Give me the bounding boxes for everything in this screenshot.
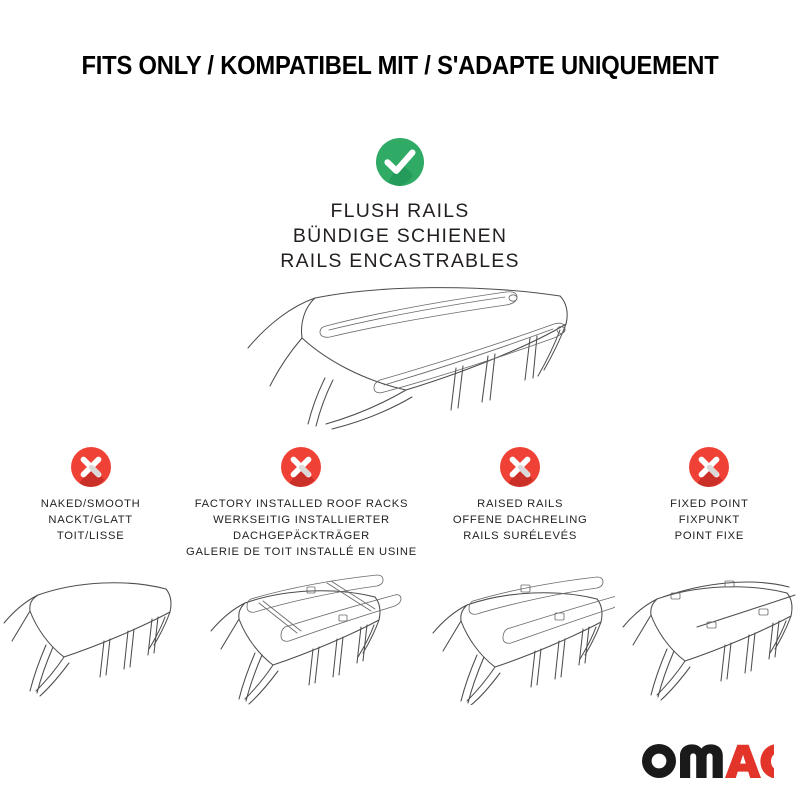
cross-circle-icon — [689, 447, 729, 487]
naked-smooth-label-de: NACKT/GLATT — [0, 513, 181, 529]
raised-rails-label-de: OFFENE DACHRELING — [422, 513, 619, 529]
fixed-point-label-fr: POINT FIXE — [619, 529, 800, 545]
cross-circle-icon — [500, 447, 540, 487]
naked-smooth-label-fr: TOIT/LISSE — [0, 529, 181, 545]
factory-racks-labels: FACTORY INSTALLED ROOF RACKS WERKSEITIG … — [181, 497, 421, 561]
check-circle-icon — [376, 138, 424, 186]
naked-smooth-labels: NAKED/SMOOTH NACKT/GLATT TOIT/LISSE — [0, 497, 181, 545]
header: FITS ONLY / KOMPATIBEL MIT / S'ADAPTE UN… — [0, 54, 800, 80]
fixed-point-label-en: FIXED POINT — [619, 497, 800, 513]
logo-letter-o — [642, 744, 676, 778]
fixed-point-label-de: FIXPUNKT — [619, 513, 800, 529]
raised-rails-labels: RAISED RAILS OFFENE DACHRELING RAILS SUR… — [422, 497, 619, 545]
factory-racks-label-en: FACTORY INSTALLED ROOF RACKS — [181, 497, 421, 513]
logo-letter-m — [680, 744, 723, 778]
incompatible-item-fixed-point: FIXED POINT FIXPUNKT POINT FIXE — [619, 447, 800, 561]
compatible-labels: FLUSH RAILS BÜNDIGE SCHIENEN RAILS ENCAS… — [0, 199, 800, 274]
factory-racks-label-de-1: WERKSEITIG INSTALLIERTER — [181, 513, 421, 529]
compatible-label-de: BÜNDIGE SCHIENEN — [0, 224, 800, 249]
raised-rails-label-fr: RAILS SURÉLEVÉS — [422, 529, 619, 545]
cross-circle-icon — [281, 447, 321, 487]
factory-racks-label-de-2: DACHGEPÄCKTRÄGER — [181, 529, 421, 545]
omac-logo — [642, 744, 774, 778]
car-roof-flush-rails-illustration — [0, 280, 800, 430]
compatible-label-fr: RAILS ENCASTRABLES — [0, 249, 800, 274]
raised-rails-label-en: RAISED RAILS — [422, 497, 619, 513]
incompatible-item-raised-rails: RAISED RAILS OFFENE DACHRELING RAILS SUR… — [422, 447, 619, 561]
incompatible-section: NAKED/SMOOTH NACKT/GLATT TOIT/LISSE — [0, 447, 800, 561]
page-title: FITS ONLY / KOMPATIBEL MIT / S'ADAPTE UN… — [28, 54, 772, 80]
factory-racks-label-fr: GALERIE DE TOIT INSTALLÉ EN USINE — [181, 545, 421, 561]
car-roof-factory-racks-illustration — [181, 565, 421, 705]
cross-circle-icon — [71, 447, 111, 487]
naked-smooth-label-en: NAKED/SMOOTH — [0, 497, 181, 513]
compatible-section: FLUSH RAILS BÜNDIGE SCHIENEN RAILS ENCAS… — [0, 138, 800, 274]
logo-letter-a — [725, 745, 761, 778]
fixed-point-labels: FIXED POINT FIXPUNKT POINT FIXE — [619, 497, 800, 545]
compatibility-infographic: FITS ONLY / KOMPATIBEL MIT / S'ADAPTE UN… — [0, 0, 800, 800]
incompatible-item-factory-racks: FACTORY INSTALLED ROOF RACKS WERKSEITIG … — [181, 447, 421, 561]
car-roof-naked-illustration — [0, 565, 181, 705]
compatible-label-en: FLUSH RAILS — [0, 199, 800, 224]
logo-letter-c — [760, 744, 774, 778]
car-roof-fixed-point-illustration — [619, 565, 800, 705]
car-roof-raised-rails-illustration — [422, 565, 619, 705]
incompatible-item-naked-smooth: NAKED/SMOOTH NACKT/GLATT TOIT/LISSE — [0, 447, 181, 561]
